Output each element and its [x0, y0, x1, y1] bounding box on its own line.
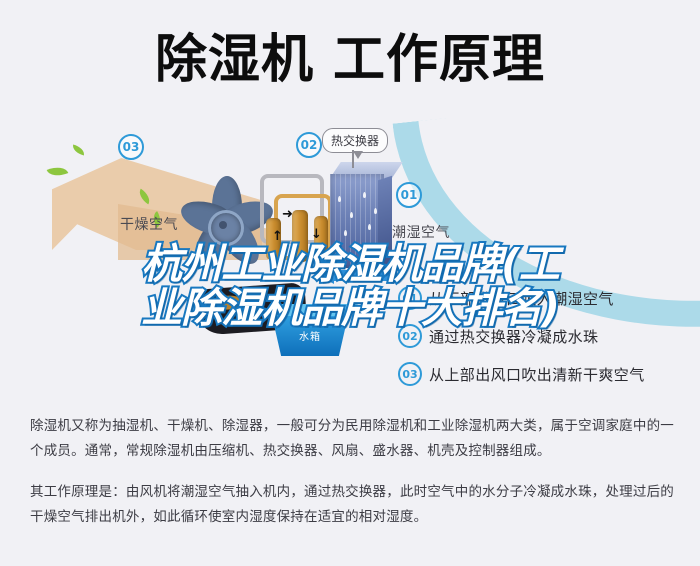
water-droplet: [356, 246, 359, 252]
water-droplet: [368, 224, 371, 230]
fan-hub: [208, 210, 244, 246]
page-title-band: 除湿机 工作原理: [0, 0, 700, 120]
step-text: 通过热交换器冷凝成水珠: [429, 326, 598, 347]
body-paragraph-2: 其工作原理是：由风机将潮湿空气抽入机内，通过热交换器，此时空气中的水分子冷凝成水…: [30, 480, 674, 530]
callout-badge-01: 01: [396, 182, 422, 208]
step-text: 从下部进风口吸入潮湿空气: [429, 288, 614, 309]
callout-badge-02: 02: [296, 132, 322, 158]
step-badge: 03: [398, 362, 422, 386]
caption-dry-air: 干燥空气: [120, 214, 178, 234]
step-badge: 01: [398, 286, 422, 310]
step-row: 01 从下部进风口吸入潮湿空气: [398, 286, 688, 310]
article-body: 除湿机又称为抽湿机、干燥机、除湿器，一般可分为民用除湿机和工业除湿机两大类，属于…: [30, 414, 674, 530]
working-principle-illustration: ➜ ↑ ↓ 水箱 01: [0, 118, 700, 390]
caption-moist-air: 潮湿空气: [392, 222, 450, 242]
water-tank-illustration: 水箱: [272, 304, 358, 358]
flow-arrow-down-icon: ↓: [311, 228, 322, 241]
step-row: 03 从上部出风口吹出清新干爽空气: [398, 362, 688, 386]
air-intake-arrow-icon: [318, 266, 396, 284]
arrow-shaft: [332, 270, 396, 281]
body-paragraph-1: 除湿机又称为抽湿机、干燥机、除湿器，一般可分为民用除湿机和工业除湿机两大类，属于…: [30, 414, 674, 464]
water-tank-label: 水箱: [272, 328, 348, 343]
water-droplet: [374, 208, 377, 214]
page-title: 除湿机 工作原理: [155, 34, 545, 86]
leaf-icon: [47, 163, 69, 180]
step-list: 01 从下部进风口吸入潮湿空气 02 通过热交换器冷凝成水珠 03 从上部出风口…: [398, 286, 688, 390]
leaf-icon: [71, 145, 86, 156]
callout-bubble-heat-exchanger: 热交换器: [322, 128, 388, 153]
water-tank-top: [272, 304, 358, 318]
flow-arrow-up-icon: ↑: [272, 230, 283, 243]
water-droplet: [344, 230, 347, 236]
heat-exchanger-illustration: [330, 162, 392, 270]
compressor-coil-illustration: ➜ ↑ ↓: [258, 172, 340, 272]
step-text: 从上部出风口吹出清新干爽空气: [429, 364, 645, 385]
heat-exchanger-side: [378, 176, 392, 269]
flow-arrow-right-icon: ➜: [282, 208, 293, 221]
step-badge: 02: [398, 324, 422, 348]
step-row: 02 通过热交换器冷凝成水珠: [398, 324, 688, 348]
callout-bubble-stem: [352, 150, 354, 168]
heat-exchanger-face: [330, 174, 384, 268]
compressor-cylinder: [292, 210, 308, 262]
water-droplet: [350, 212, 353, 218]
page-root: 除湿机 工作原理 ➜ ↑ ↓: [0, 0, 700, 566]
callout-badge-03: 03: [118, 134, 144, 160]
water-droplet: [338, 196, 341, 202]
water-droplet: [363, 192, 366, 198]
